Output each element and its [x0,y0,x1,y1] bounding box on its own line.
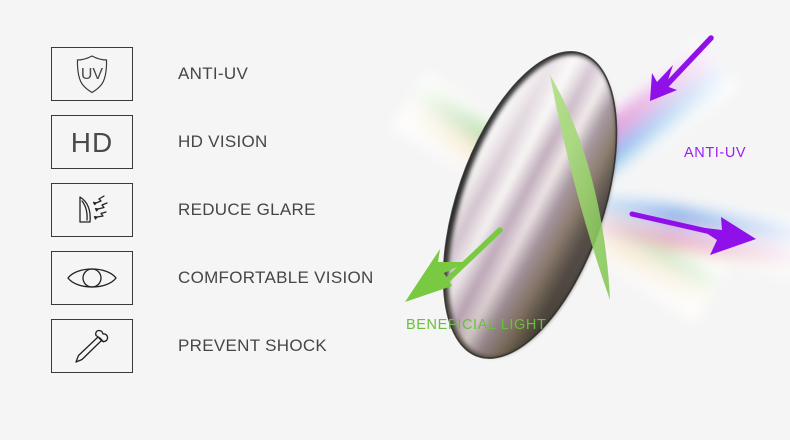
feature-row-prevent-shock: PREVENT SHOCK [51,318,411,374]
feature-label-prevent-shock: PREVENT SHOCK [178,336,327,356]
uv-icon-text: UV [81,66,104,83]
feature-label-hd-vision: HD VISION [178,132,268,152]
beneficial-light-beam-label: BENEFICIAL LIGHT [406,317,546,333]
feature-row-hd-vision: HD HD VISION [51,114,411,170]
hammer-icon [51,319,133,373]
glare-deflect-icon [51,183,133,237]
eye-icon [51,251,133,305]
poster-canvas: UV ANTI-UV HD HD VISION [0,0,790,440]
feature-label-reduce-glare: REDUCE GLARE [178,200,316,220]
feature-row-reduce-glare: REDUCE GLARE [51,182,411,238]
anti-uv-beam-label: ANTI-UV [684,145,746,161]
feature-row-anti-uv: UV ANTI-UV [51,46,411,102]
feature-row-comfortable-vision: COMFORTABLE VISION [51,250,411,306]
feature-list: UV ANTI-UV HD HD VISION [51,46,411,386]
feature-label-comfortable-vision: COMFORTABLE VISION [178,268,374,288]
hd-text-icon: HD [51,115,133,169]
feature-label-anti-uv: ANTI-UV [178,64,248,84]
lens-illustration [380,0,790,440]
hd-icon-text: HD [71,127,113,158]
uv-shield-icon: UV [51,47,133,101]
